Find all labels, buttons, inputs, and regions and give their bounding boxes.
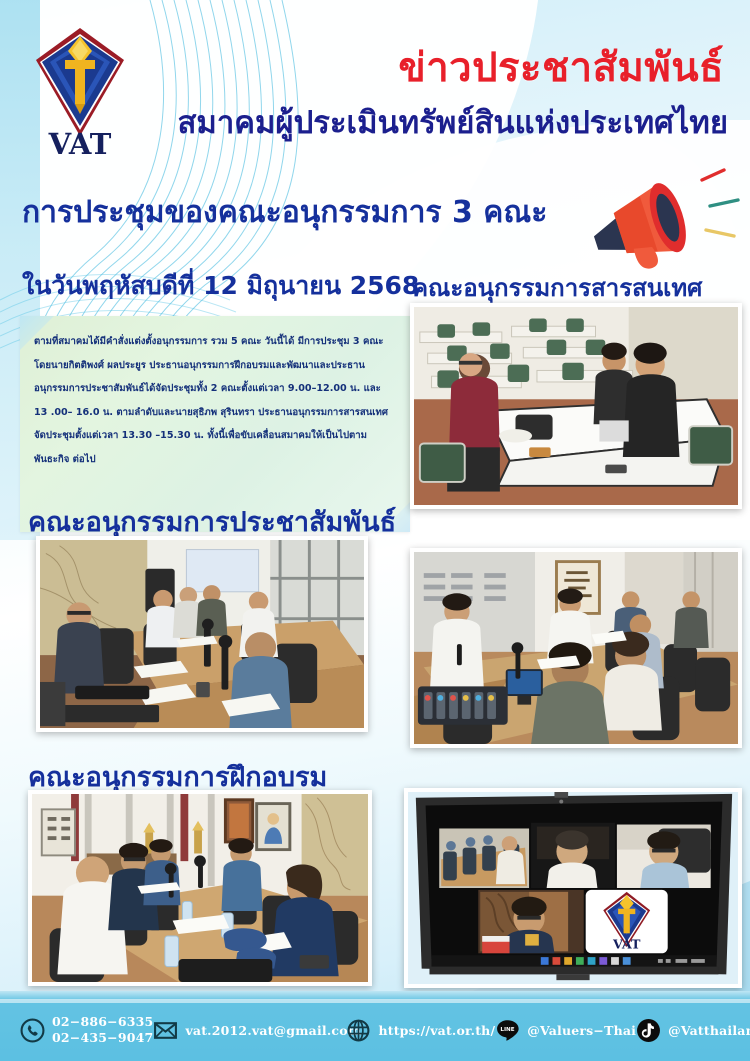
photo-pr-meeting-right <box>410 548 742 748</box>
contact-website[interactable]: https://vat.or.th/ <box>346 1018 495 1043</box>
photo-training-meeting <box>28 790 372 986</box>
photo-information-meeting <box>410 303 742 509</box>
phone-number-1: 02−886−6335 <box>52 1014 153 1029</box>
photo-pr-right-content <box>414 552 738 744</box>
website-url: https://vat.or.th/ <box>378 1023 495 1038</box>
contact-tiktok[interactable]: @Vatthailand <box>636 1018 750 1043</box>
page-title: ข่าวประชาสัมพันธ์ <box>398 48 724 88</box>
email-address: vat.2012.vat@gmail.com <box>185 1023 361 1038</box>
svg-text:VAT: VAT <box>48 127 112 158</box>
contact-phone[interactable]: 02−886−6335 02−435−9047 <box>20 1014 153 1046</box>
megaphone-glyph <box>556 166 746 276</box>
announcement-body-text: ตามที่สมาคมได้มีคำสั่งแต่งตั้งอนุกรรมการ… <box>34 330 400 471</box>
meeting-date: ในวันพฤหัสบดีที่ 12 มิถุนายน 2568 <box>22 266 419 306</box>
photo-online-content: VAT <box>408 792 738 984</box>
contact-email[interactable]: vat.2012.vat@gmail.com <box>153 1018 346 1043</box>
envelope-icon <box>153 1018 178 1043</box>
tiktok-handle: @Vatthailand <box>668 1023 750 1038</box>
footer-contacts: 02−886−6335 02−435−9047 vat.2012.vat@gma… <box>0 991 750 1061</box>
phone-number-2: 02−435−9047 <box>52 1030 153 1045</box>
svg-text:LINE: LINE <box>501 1027 515 1033</box>
globe-icon <box>346 1018 371 1043</box>
phone-numbers: 02−886−6335 02−435−9047 <box>52 1014 153 1046</box>
meeting-headline: การประชุมของคณะอนุกรรมการ 3 คณะ <box>22 196 547 229</box>
phone-icon <box>20 1018 45 1043</box>
megaphone-icon <box>556 166 746 276</box>
section-title-information: คณะอนุกรรมการสารสนเทศ <box>412 268 702 307</box>
organization-name: สมาคมผู้ประเมินทรัพย์สินแห่งประเทศไทย <box>177 108 728 139</box>
contact-line[interactable]: LINE @Valuers−Thai <box>495 1018 636 1043</box>
line-id: @Valuers−Thai <box>527 1023 636 1038</box>
photo-training-content <box>32 794 368 982</box>
poster-root: VAT ข่าวประชาสัมพันธ์ สมาคมผู้ประเมินทรั… <box>0 0 750 1061</box>
svg-text:VAT: VAT <box>612 937 641 952</box>
photo-online-meeting: VAT <box>404 788 742 988</box>
photo-pr-left-content <box>40 540 364 728</box>
vat-logo: VAT <box>20 18 140 158</box>
line-icon: LINE <box>495 1018 520 1043</box>
photo-information-content <box>414 307 738 505</box>
photo-pr-meeting-left <box>36 536 368 732</box>
vat-logo-icon: VAT <box>20 18 140 158</box>
tiktok-icon <box>636 1018 661 1043</box>
